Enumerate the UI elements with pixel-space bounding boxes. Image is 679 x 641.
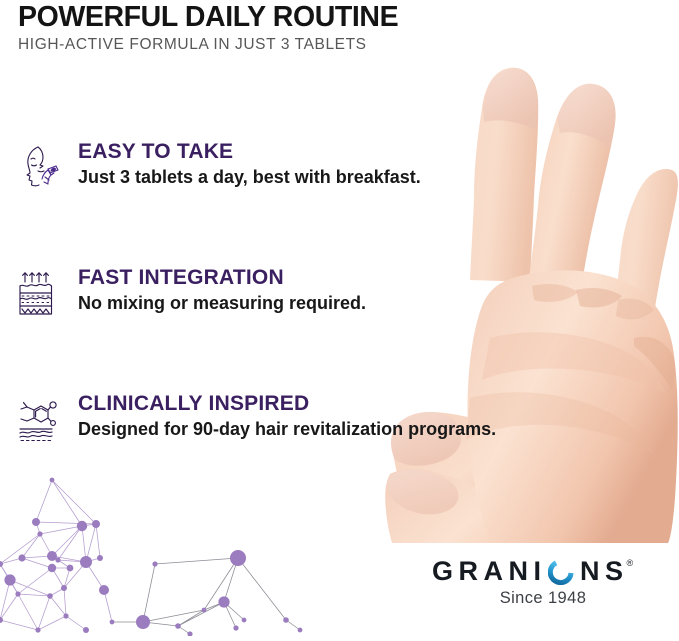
wordmark-part-2: NS (580, 556, 629, 586)
feature-description: Designed for 90-day hair revitalization … (78, 418, 496, 440)
granions-blue-ring-icon (548, 559, 574, 585)
wordmark-part-1: GRANI (432, 556, 547, 586)
brand-logo: GRANI NS ® Since 1948 (432, 556, 672, 608)
hand-illustration (370, 38, 679, 543)
page-title: POWERFUL DAILY ROUTINE (18, 2, 498, 32)
molecular-network-graphic (0, 470, 340, 636)
feature-heading: CLINICALLY INSPIRED (78, 392, 496, 415)
infographic-canvas: POWERFUL DAILY ROUTINE HIGH-ACTIVE FORMU… (0, 0, 679, 636)
feature-text: FAST INTEGRATION No mixing or measuring … (78, 266, 366, 314)
feature-heading: EASY TO TAKE (78, 140, 421, 163)
face-taking-tablet-icon (18, 144, 64, 192)
brand-wordmark: GRANI NS ® (432, 556, 672, 586)
feature-heading: FAST INTEGRATION (78, 266, 366, 289)
feature-text: CLINICALLY INSPIRED Designed for 90-day … (78, 392, 496, 440)
molecule-skin-icon (18, 396, 64, 444)
registered-trademark-symbol: ® (627, 548, 634, 578)
feature-description: No mixing or measuring required. (78, 292, 366, 314)
feature-description: Just 3 tablets a day, best with breakfas… (78, 166, 421, 188)
feature-text: EASY TO TAKE Just 3 tablets a day, best … (78, 140, 421, 188)
brand-tagline: Since 1948 (432, 589, 672, 608)
hand-holding-tablet-image (370, 38, 679, 543)
absorption-layers-icon (18, 270, 64, 318)
